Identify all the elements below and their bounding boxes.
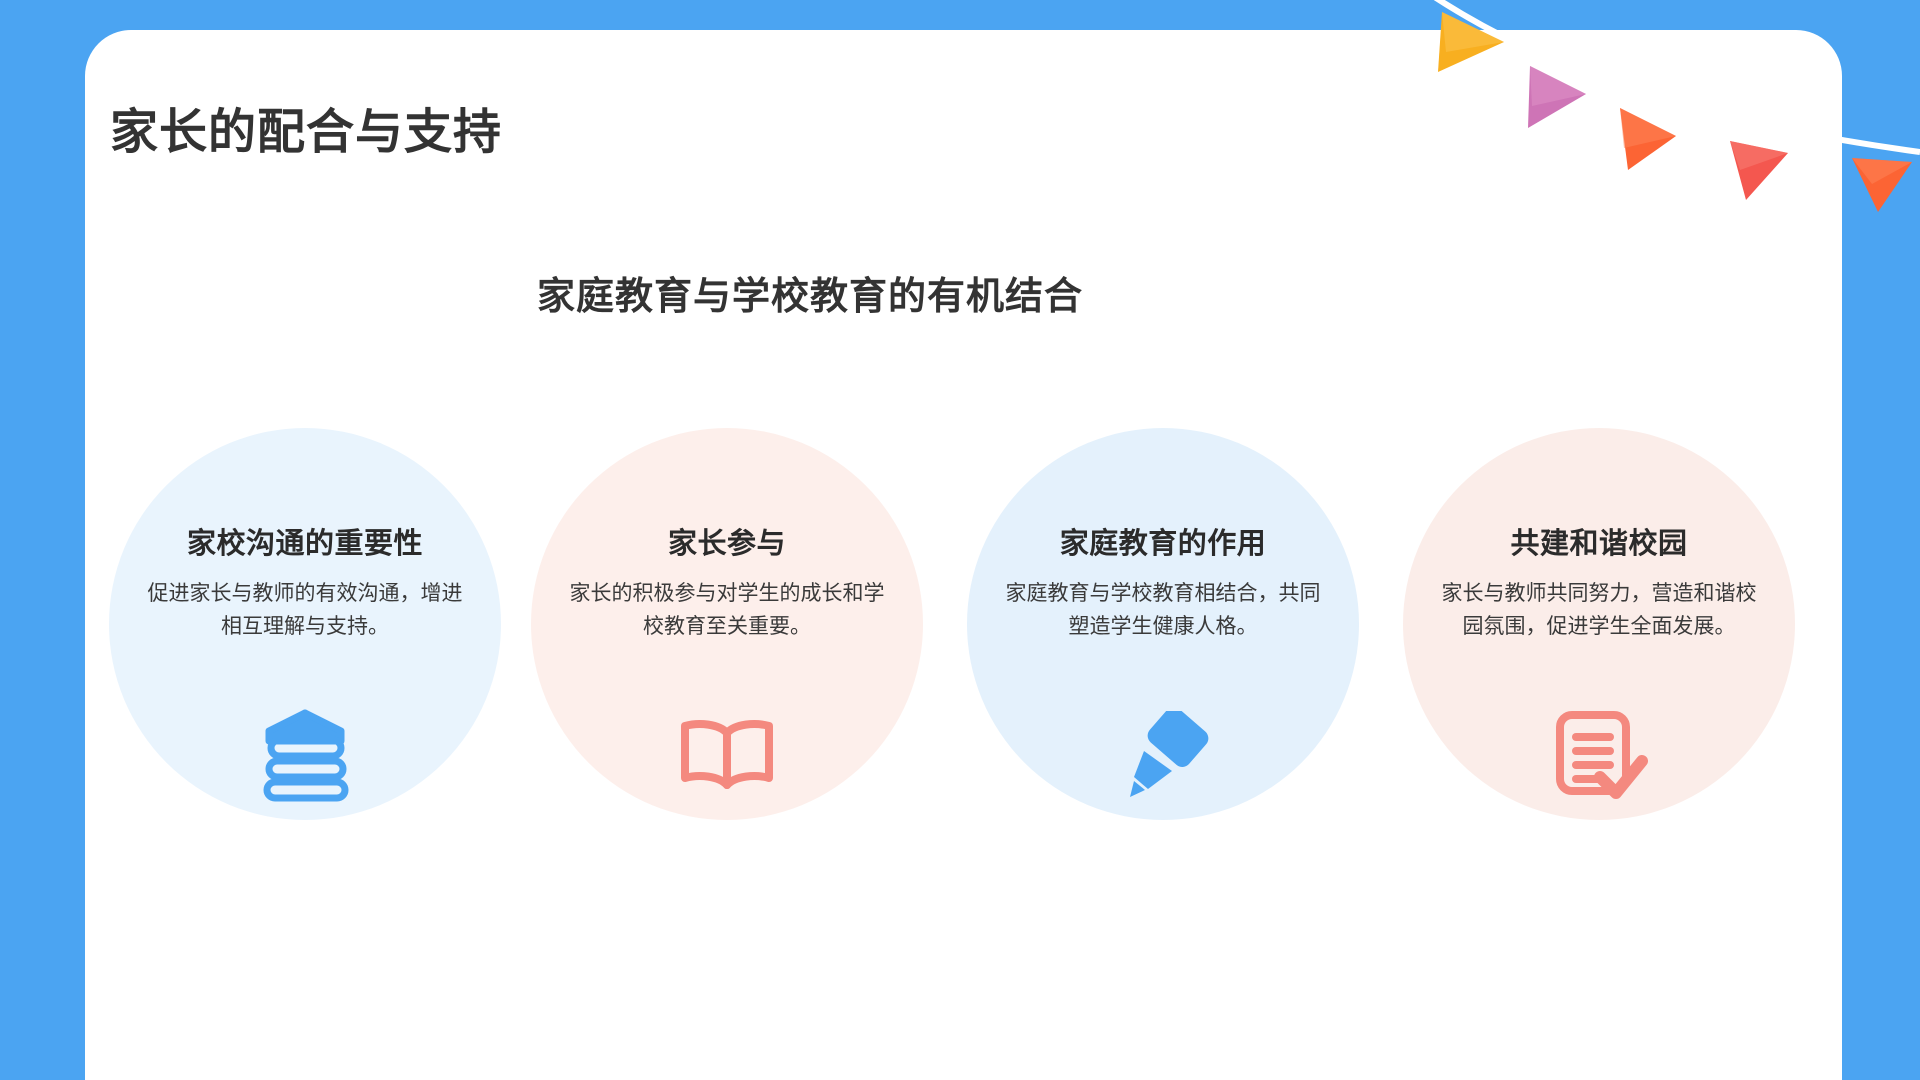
- feature-card-title: 家庭教育的作用: [967, 520, 1359, 562]
- feature-card-title: 家长参与: [531, 520, 923, 562]
- feature-card-title: 家校沟通的重要性: [109, 520, 501, 562]
- feature-icon-slot-2: [531, 700, 923, 810]
- feature-card-4: 共建和谐校园 家长与教师共同努力，营造和谐校园氛围，促进学生全面发展。: [1403, 520, 1795, 643]
- feature-icon-slot-4: [1403, 700, 1795, 810]
- feature-card-desc: 促进家长与教师的有效沟通，增进相互理解与支持。: [109, 578, 501, 643]
- feature-card-desc: 家庭教育与学校教育相结合，共同塑造学生健康人格。: [967, 578, 1359, 643]
- feature-icon-slot-3: [967, 700, 1359, 810]
- page-title: 家长的配合与支持: [110, 92, 502, 162]
- feature-card-desc: 家长的积极参与对学生的成长和学校教育至关重要。: [531, 578, 923, 643]
- slide-canvas: 家长的配合与支持 家庭教育与学校教育的有机结合 家校沟通的重要性 促进家长与教师…: [0, 0, 1920, 1080]
- stacked-books-icon: [255, 707, 355, 803]
- feature-cards-row: 家校沟通的重要性 促进家长与教师的有效沟通，增进相互理解与支持。 家长参与 家长…: [85, 428, 1842, 1028]
- feature-card-2: 家长参与 家长的积极参与对学生的成长和学校教育至关重要。: [531, 520, 923, 643]
- section-subtitle: 家庭教育与学校教育的有机结合: [85, 265, 1535, 320]
- feature-card-3: 家庭教育的作用 家庭教育与学校教育相结合，共同塑造学生健康人格。: [967, 520, 1359, 643]
- slide-content-card: 家长的配合与支持 家庭教育与学校教育的有机结合 家校沟通的重要性 促进家长与教师…: [85, 30, 1842, 1080]
- feature-card-title: 共建和谐校园: [1403, 520, 1795, 562]
- open-book-icon: [675, 715, 779, 795]
- highlighter-pen-icon: [1114, 711, 1212, 799]
- bunting-flag: [1852, 158, 1912, 212]
- document-check-icon: [1550, 707, 1648, 803]
- feature-card-desc: 家长与教师共同努力，营造和谐校园氛围，促进学生全面发展。: [1403, 578, 1795, 643]
- feature-card-1: 家校沟通的重要性 促进家长与教师的有效沟通，增进相互理解与支持。: [109, 520, 501, 643]
- feature-icon-slot-1: [109, 700, 501, 810]
